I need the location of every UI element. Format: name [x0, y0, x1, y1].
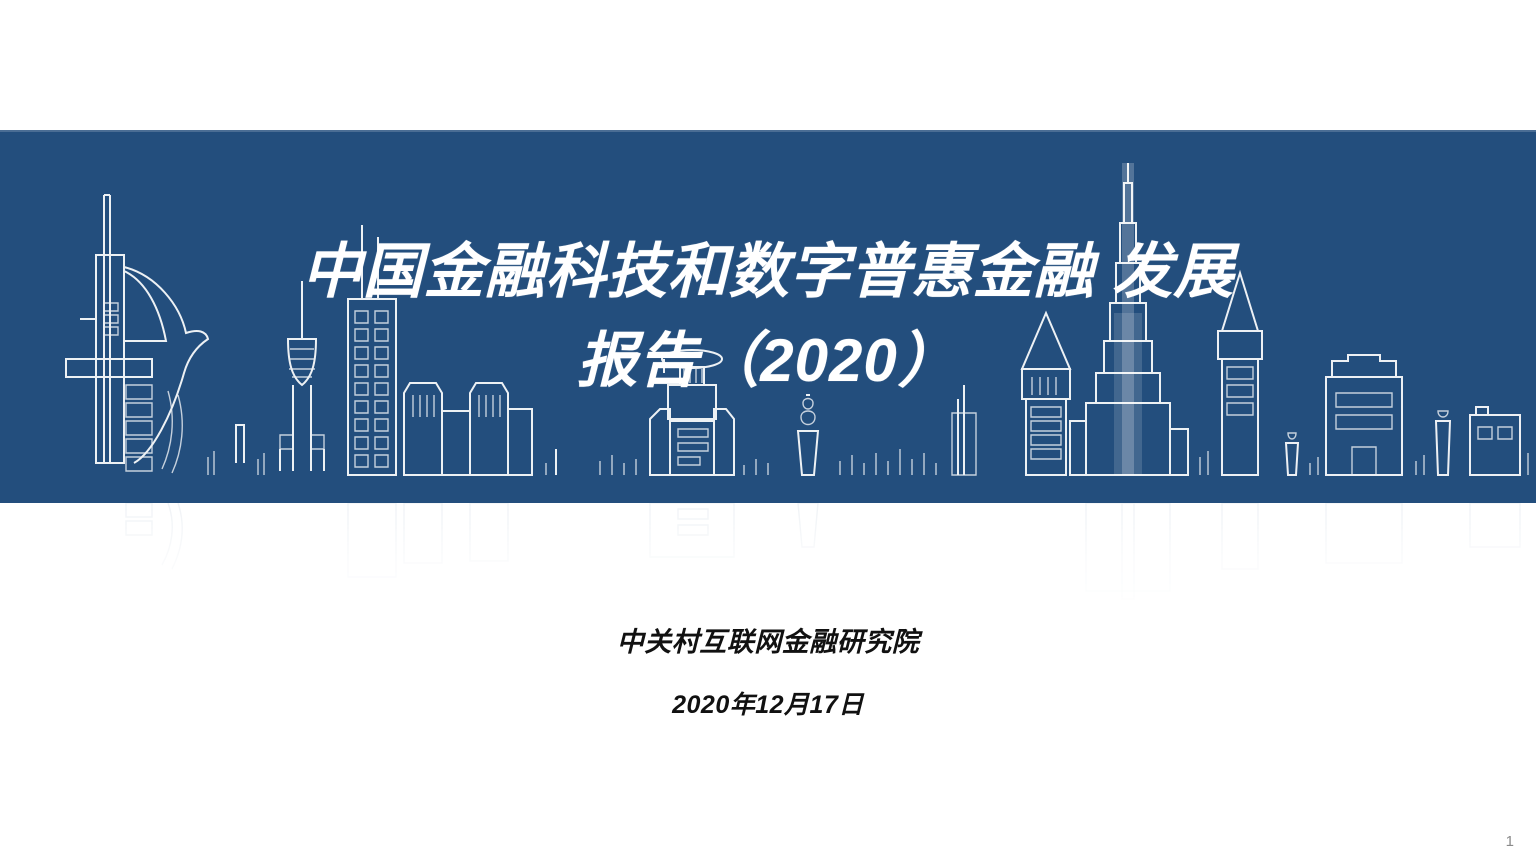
skyline-reflection-icon	[0, 503, 1536, 633]
organization-name: 中关村互联网金融研究院	[0, 620, 1536, 659]
presentation-date: 2020年12月17日	[0, 685, 1536, 721]
banner-top-hairline	[0, 130, 1536, 132]
banner-band	[0, 130, 1536, 503]
skyline-reflection	[0, 503, 1536, 633]
page-number: 1	[1506, 833, 1514, 850]
slide-subtitle: 中关村互联网金融研究院 2020年12月17日	[0, 620, 1536, 721]
title-slide: 中国金融科技和数字普惠金融 发展 报告（2020） 中关村互联网金融研究院 20…	[0, 0, 1536, 864]
dubai-skyline-icon	[0, 163, 1536, 503]
